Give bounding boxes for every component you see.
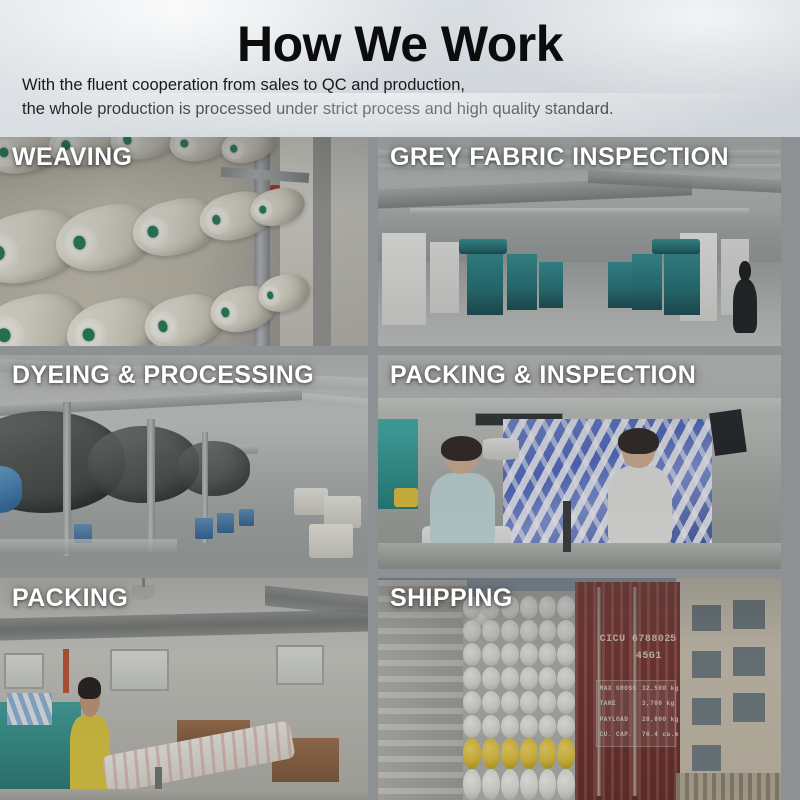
- grid-cell-shipping[interactable]: CICU 678802 5 45G1 MAX GROSS 32,500 kg T…: [378, 578, 800, 800]
- container-tare-label: TARE: [600, 700, 616, 707]
- container-payload-kg: 28,800 kg: [642, 716, 679, 723]
- label-dyeing-processing: DYEING & PROCESSING: [12, 359, 314, 391]
- label-shipping: SHIPPING: [390, 582, 513, 614]
- photo-shipping: CICU 678802 5 45G1 MAX GROSS 32,500 kg T…: [378, 578, 781, 800]
- container-type-code: 45G1: [636, 651, 662, 662]
- page-title: How We Work: [0, 16, 800, 72]
- page-subtitle: With the fluent cooperation from sales t…: [22, 73, 778, 121]
- container-check-digit: 5: [670, 634, 677, 645]
- container-tare-kg: 3,700 kg: [642, 700, 675, 707]
- subtitle-line-1: With the fluent cooperation from sales t…: [22, 73, 778, 97]
- subtitle-line-2: the whole production is processed under …: [22, 97, 778, 121]
- container-max-gross-label: MAX GROSS: [600, 685, 637, 692]
- label-packing: PACKING: [12, 582, 128, 614]
- grid-cell-packing-inspection[interactable]: PACKING & INSPECTION: [378, 355, 800, 578]
- label-packing-inspection: PACKING & INSPECTION: [390, 359, 696, 391]
- photo-packing-inspection: PACKING & INSPECTION: [378, 355, 781, 569]
- container-owner-code: CICU: [600, 634, 626, 645]
- container-max-gross-kg: 32,500 kg: [642, 685, 679, 692]
- page-header: How We Work With the fluent cooperation …: [0, 0, 800, 137]
- process-photo-grid: WEAVING: [0, 137, 800, 800]
- grid-cell-packing[interactable]: PACKING: [0, 578, 378, 800]
- photo-weaving: WEAVING: [0, 137, 368, 346]
- container-cu-cap-kg: 76.4 cu.m: [642, 731, 679, 738]
- grid-cell-grey-fabric-inspection[interactable]: GREY FABRIC INSPECTION: [378, 137, 800, 355]
- container-serial: 678802: [632, 634, 671, 645]
- photo-packing: PACKING: [0, 578, 368, 800]
- grid-cell-dyeing-processing[interactable]: DYEING & PROCESSING: [0, 355, 378, 578]
- photo-grey-fabric-inspection: GREY FABRIC INSPECTION: [378, 137, 781, 346]
- label-weaving: WEAVING: [12, 141, 132, 173]
- container-payload-label: PAYLOAD: [600, 716, 629, 723]
- label-grey-fabric-inspection: GREY FABRIC INSPECTION: [390, 141, 729, 173]
- photo-dyeing-processing: DYEING & PROCESSING: [0, 355, 368, 569]
- grid-cell-weaving[interactable]: WEAVING: [0, 137, 378, 355]
- how-we-work-page: How We Work With the fluent cooperation …: [0, 0, 800, 800]
- container-cu-cap-label: CU. CAP.: [600, 731, 633, 738]
